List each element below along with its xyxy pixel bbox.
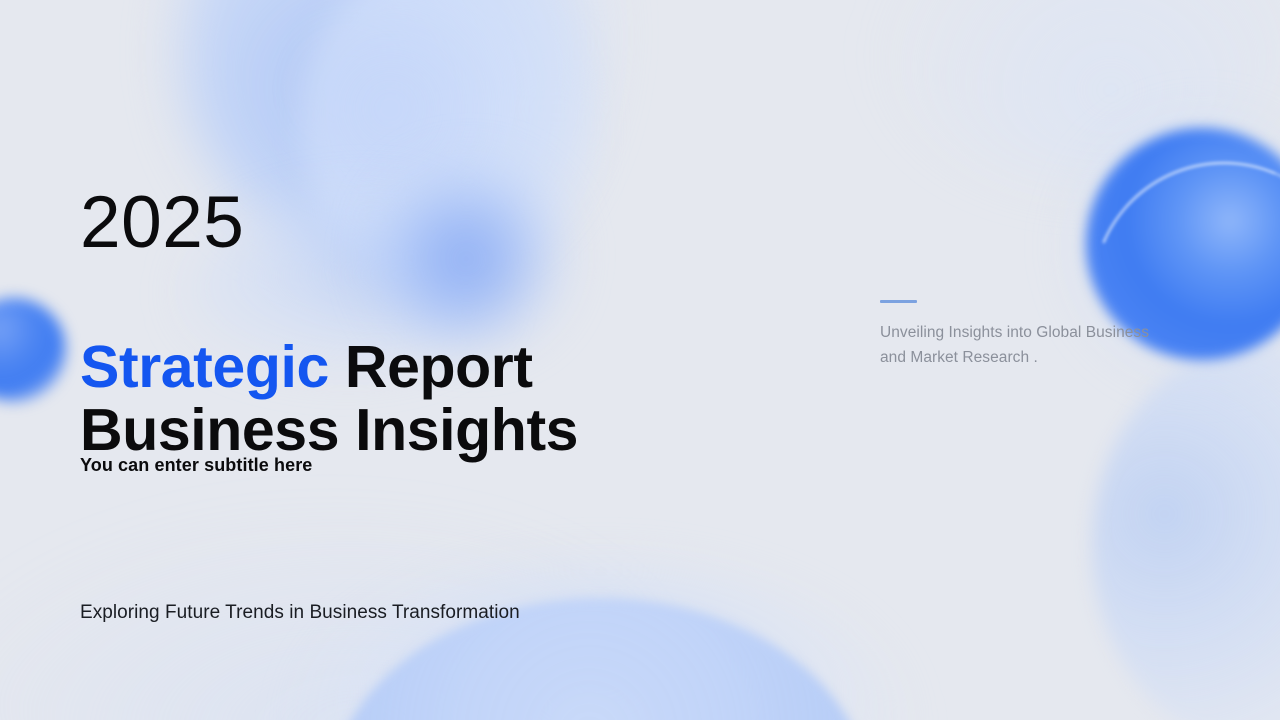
page-title: Strategic ReportBusiness Insights [80,336,578,462]
side-note-line2: and Market Research . [880,349,1038,366]
left-text-column: 2025 Strategic ReportBusiness Insights Y… [80,0,820,720]
tagline-text: Exploring Future Trends in Business Tran… [80,602,520,624]
slide-content: 2025 Strategic ReportBusiness Insights Y… [0,0,1280,720]
title-line2: Business Insights [80,397,578,463]
side-note-line1: Unveiling Insights into Global Business [880,324,1149,341]
side-note-block: Unveiling Insights into Global Business … [880,300,1170,370]
title-slide: 2025 Strategic ReportBusiness Insights Y… [0,0,1280,720]
accent-rule [880,300,917,303]
year-label: 2025 [80,186,244,259]
title-accent-word: Strategic [80,334,329,400]
side-note-text: Unveiling Insights into Global Business … [880,320,1170,370]
subtitle-text: You can enter subtitle here [80,455,312,476]
title-line1-rest: Report [329,334,533,400]
